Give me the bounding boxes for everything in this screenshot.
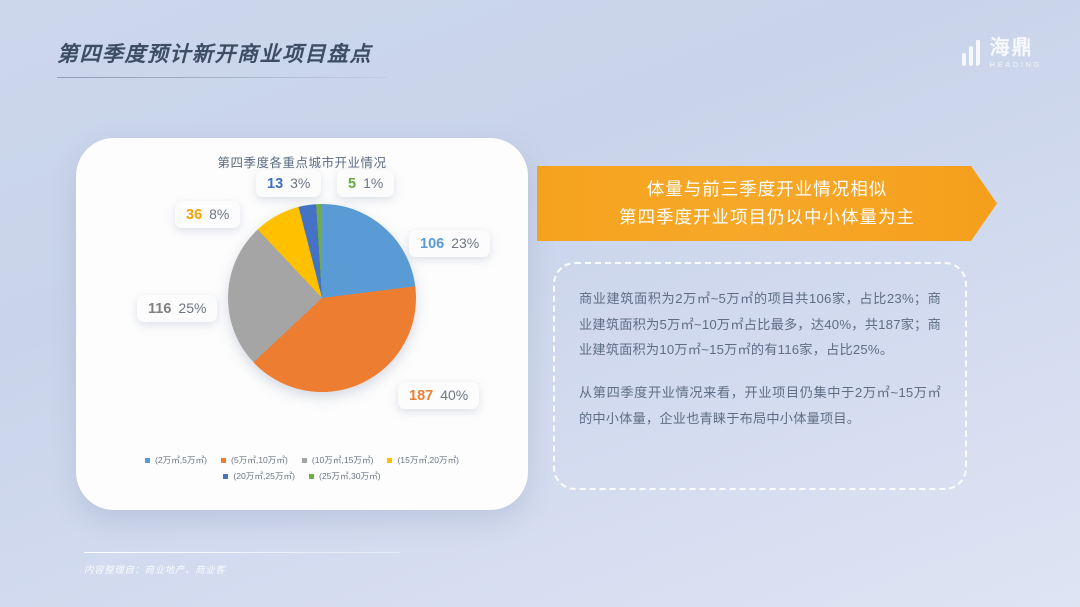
brand-logo: 海鼎 HEADING bbox=[961, 38, 1042, 69]
pie-label-36: 36 8% bbox=[175, 201, 240, 228]
legend-item: (25万㎡,30万㎡) bbox=[309, 470, 381, 482]
pie-label-106: 106 23% bbox=[409, 230, 490, 257]
pie-label-5: 5 1% bbox=[337, 170, 394, 197]
analysis-paragraph-1: 商业建筑面积为2万㎡~5万㎡的项目共106家，占比23%；商业建筑面积为5万㎡~… bbox=[579, 286, 941, 363]
legend-swatch-icon bbox=[221, 458, 226, 463]
pie-label-13: 13 3% bbox=[256, 170, 321, 197]
pie-graphic bbox=[228, 204, 416, 392]
legend-item: (2万㎡,5万㎡) bbox=[145, 454, 207, 466]
footer: 内容整理自：商业地产、商业客 bbox=[84, 552, 400, 576]
legend-item: (20万㎡,25万㎡) bbox=[223, 470, 295, 482]
insight-banner: 体量与前三季度开业情况相似 第四季度开业项目仍以中小体量为主 bbox=[537, 166, 997, 241]
brand-logo-text: 海鼎 HEADING bbox=[990, 38, 1042, 69]
legend-item: (10万㎡,15万㎡) bbox=[302, 454, 374, 466]
chart-card: 第四季度各重点城市开业情况 13 3% 5 1% 36 8% 106 23% 1… bbox=[76, 138, 528, 510]
analysis-textbox: 商业建筑面积为2万㎡~5万㎡的项目共106家，占比23%；商业建筑面积为5万㎡~… bbox=[553, 262, 967, 490]
header-divider bbox=[57, 77, 387, 78]
page-title: 第四季度预计新开商业项目盘点 bbox=[57, 38, 397, 68]
pie-label-116: 116 25% bbox=[137, 295, 217, 322]
source-note: 内容整理自：商业地产、商业客 bbox=[84, 562, 400, 576]
analysis-paragraph-2: 从第四季度开业情况来看，开业项目仍集中于2万㎡~15万㎡的中小体量，企业也青睐于… bbox=[579, 380, 941, 431]
pie-chart: 13 3% 5 1% 36 8% 106 23% 116 25% 187 40%… bbox=[76, 162, 528, 430]
legend-swatch-icon bbox=[309, 474, 314, 479]
heading-bars-logo-icon bbox=[961, 40, 983, 66]
page-header: 第四季度预计新开商业项目盘点 bbox=[57, 38, 397, 78]
legend-item: (5万㎡,10万㎡) bbox=[221, 454, 288, 466]
insight-banner-line1: 体量与前三季度开业情况相似 bbox=[647, 176, 888, 203]
legend-swatch-icon bbox=[223, 474, 228, 479]
legend-item: (15万㎡,20万㎡) bbox=[387, 454, 459, 466]
brand-name-en: HEADING bbox=[990, 61, 1042, 69]
legend-swatch-icon bbox=[387, 458, 392, 463]
pie-label-187: 187 40% bbox=[398, 382, 479, 409]
brand-name-cn: 海鼎 bbox=[990, 38, 1042, 58]
insight-banner-line2: 第四季度开业项目仍以中小体量为主 bbox=[619, 204, 915, 231]
chart-legend: (2万㎡,5万㎡) (5万㎡,10万㎡) (10万㎡,15万㎡) (15万㎡,2… bbox=[76, 454, 528, 482]
footer-divider bbox=[84, 552, 400, 553]
legend-swatch-icon bbox=[145, 458, 150, 463]
legend-swatch-icon bbox=[302, 458, 307, 463]
